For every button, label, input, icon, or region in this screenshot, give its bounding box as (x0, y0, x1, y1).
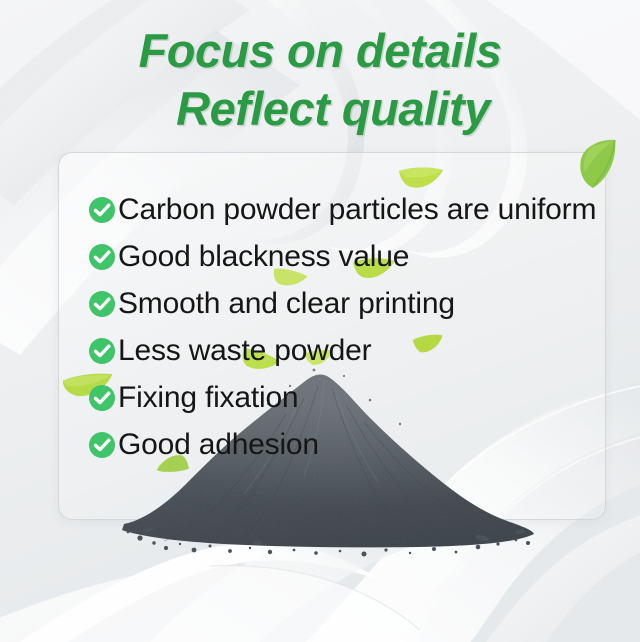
check-circle-icon (88, 384, 116, 412)
list-item-label: Good blackness value (118, 240, 409, 274)
list-item-label: Good adhesion (118, 428, 319, 462)
headline-line-2: Reflect quality (0, 80, 640, 138)
page-title: Focus on details Reflect quality (0, 22, 640, 138)
list-item-label: Carbon powder particles are uniform (118, 193, 596, 227)
check-circle-icon (88, 431, 116, 459)
list-item: Good adhesion (88, 421, 608, 468)
check-circle-icon (88, 337, 116, 365)
list-item: Smooth and clear printing (88, 280, 608, 327)
check-circle-icon (88, 243, 116, 271)
list-item: Less waste powder (88, 327, 608, 374)
list-item-label: Fixing fixation (118, 381, 298, 415)
list-item: Carbon powder particles are uniform (88, 186, 608, 233)
headline-line-1: Focus on details (0, 22, 640, 80)
list-item: Good blackness value (88, 233, 608, 280)
list-item-label: Smooth and clear printing (118, 287, 455, 321)
check-circle-icon (88, 290, 116, 318)
list-item: Fixing fixation (88, 374, 608, 421)
list-item-label: Less waste powder (118, 334, 371, 368)
product-feature-poster: Focus on details Reflect quality (0, 0, 640, 642)
check-circle-icon (88, 196, 116, 224)
feature-list: Carbon powder particles are uniform Good… (88, 186, 608, 468)
